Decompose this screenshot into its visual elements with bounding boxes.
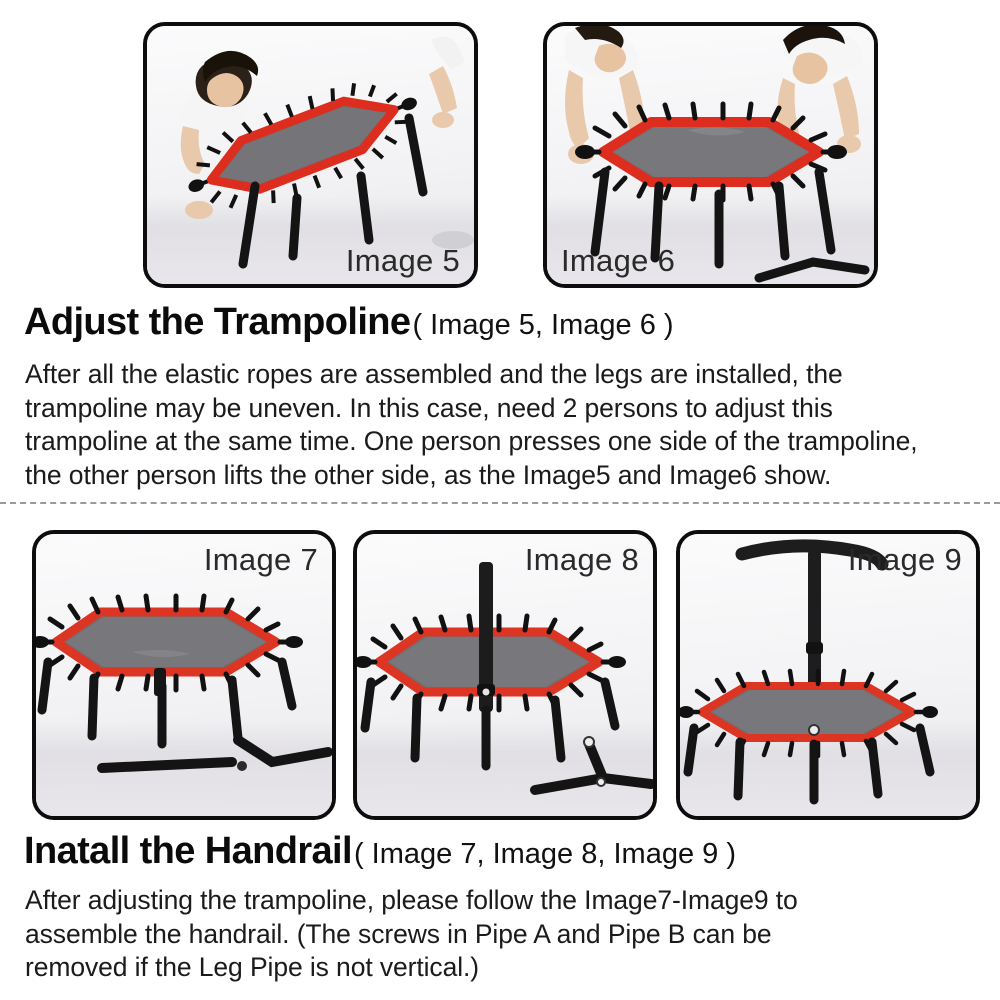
section-body-adjust-the-trampoline: After all the elastic ropes are assemble… — [25, 358, 955, 492]
photo-panel-image-9: Image 9 — [676, 530, 980, 820]
image-label-9: Image 9 — [848, 544, 962, 575]
section-body-install-the-handrail: After adjusting the trampoline, please f… — [25, 884, 955, 985]
body-line: the other person lifts the other side, a… — [25, 459, 955, 493]
body-line: removed if the Leg Pipe is not vertical.… — [25, 951, 955, 985]
body-line: assemble the handrail. (The screws in Pi… — [25, 918, 955, 952]
photo-panel-image-7: Image 7 — [32, 530, 336, 820]
photo-panel-image-5: Image 5 — [143, 22, 478, 288]
section-heading-install-the-handrail: Inatall the Handrail( Image 7, Image 8, … — [24, 832, 736, 870]
section-heading-main: Inatall the Handrail — [24, 830, 352, 872]
image-label-8: Image 8 — [525, 544, 639, 575]
image-label-5: Image 5 — [346, 245, 460, 276]
body-line: trampoline may be uneven. In this case, … — [25, 392, 955, 426]
body-line: After adjusting the trampoline, please f… — [25, 884, 955, 918]
section-heading-adjust-the-trampoline: Adjust the Trampoline( Image 5, Image 6 … — [24, 303, 674, 341]
section-heading-sub: ( Image 7, Image 8, Image 9 ) — [354, 838, 736, 870]
image-label-6: Image 6 — [561, 245, 675, 276]
body-line: After all the elastic ropes are assemble… — [25, 358, 955, 392]
section-divider — [0, 502, 1000, 504]
section-heading-main: Adjust the Trampoline — [24, 301, 410, 343]
body-line: trampoline at the same time. One person … — [25, 425, 955, 459]
photo-panel-image-6: Image 6 — [543, 22, 878, 288]
section-heading-sub: ( Image 5, Image 6 ) — [412, 309, 673, 341]
photo-panel-image-8: Image 8 — [353, 530, 657, 820]
image-label-7: Image 7 — [204, 544, 318, 575]
